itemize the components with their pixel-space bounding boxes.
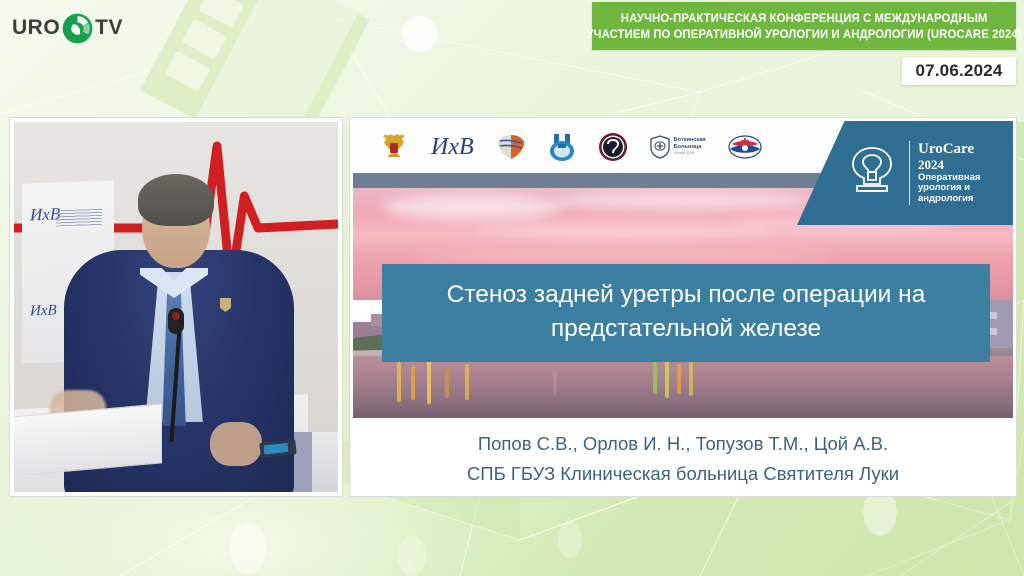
botkin-hospital-logo: БоткинскаяБольницаМосква ДЗМ xyxy=(650,130,706,164)
urocare-badge-text: UroCare 2024 Оперативная урология и андр… xyxy=(909,141,1013,204)
botkin-hospital-caption: БоткинскаяБольницаМосква ДЗМ xyxy=(674,137,706,158)
ixv-institute-logo: ИxВ xyxy=(431,130,474,164)
speaker-hand-right xyxy=(210,422,262,466)
banner-line-1: НАУЧНО-ПРАКТИЧЕСКАЯ КОНФЕРЕНЦИЯ С МЕЖДУН… xyxy=(621,10,988,26)
broadcast-stage: URO TV НАУЧНО-ПРАКТИЧЕСКАЯ КОНФЕРЕНЦИЯ С… xyxy=(0,0,1024,576)
urotv-circle-icon xyxy=(61,12,94,45)
poster-text-lines xyxy=(56,209,102,227)
date-text: 07.06.2024 xyxy=(915,61,1002,81)
presentation-slide[interactable]: ИxВ xyxy=(350,118,1016,496)
urotv-logo[interactable]: URO TV xyxy=(12,8,122,48)
national-medical-emblem-logo xyxy=(728,130,762,164)
conference-banner: НАУЧНО-ПРАКТИЧЕСКАЯ КОНФЕРЕНЦИЯ С МЕЖДУН… xyxy=(592,2,1016,50)
banner-line-2: УЧАСТИЕМ ПО ОПЕРАТИВНОЙ УРОЛОГИИ И АНДРО… xyxy=(586,26,1021,42)
logo-text-tv: TV xyxy=(95,16,123,40)
slide-title-box: Стеноз задней уретры после операции на п… xyxy=(382,264,990,362)
date-badge: 07.06.2024 xyxy=(902,57,1016,85)
logo-text-uro: URO xyxy=(12,16,60,40)
urology-flask-logo xyxy=(548,130,576,164)
speaker-hair xyxy=(138,174,214,226)
microphone-icon xyxy=(168,308,184,334)
medical-bowl-serpent-logo xyxy=(598,130,628,164)
urocare-subtitle-2: урология и андрология xyxy=(918,183,1013,204)
river-water xyxy=(353,356,1013,418)
urocare-year: 2024 xyxy=(918,158,1013,173)
russian-coat-of-arms-logo xyxy=(379,130,409,164)
slide-title-line-1: Стеноз задней уретры после операции на xyxy=(447,278,926,312)
poster-logo-text-2: ИxВ xyxy=(30,302,57,320)
slide-authors-block: Попов С.В., Орлов И. Н., Топузов Т.М., Ц… xyxy=(353,421,1013,496)
slide-title-line-2: предстательной железе xyxy=(447,312,926,346)
urology-bladder-emblem-icon xyxy=(843,142,901,205)
authors-line-2: СПБ ГБУЗ Клиническая больница Святителя … xyxy=(467,460,899,488)
ministry-health-shield-logo xyxy=(496,130,526,164)
urocare-title: UroCare xyxy=(918,141,1013,158)
speaker-video-panel[interactable]: ИxВ ИxВ xyxy=(10,118,342,496)
authors-line-1: Попов С.В., Орлов И. Н., Топузов Т.М., Ц… xyxy=(478,430,888,458)
